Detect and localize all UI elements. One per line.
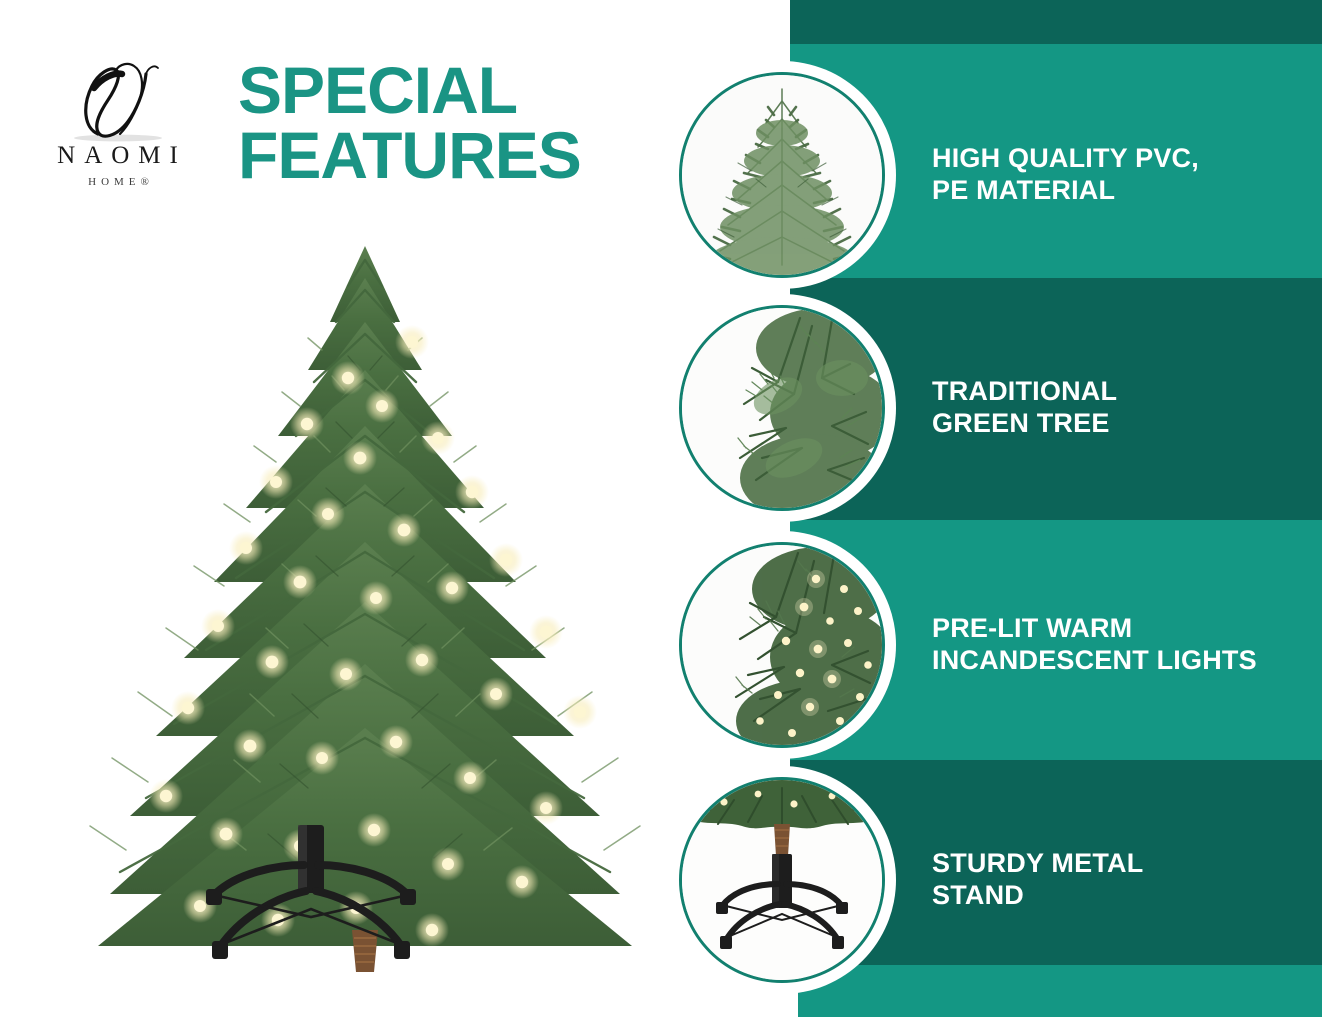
feature-thumbnail-wrap [668, 61, 896, 289]
naomi-script-n-monogram-icon [18, 58, 218, 138]
feature-label-line: TRADITIONAL [932, 376, 1312, 408]
feature-label-lights: PRE-LIT WARM INCANDESCENT LIGHTS [932, 613, 1312, 677]
feature-thumbnail-wrap [668, 531, 896, 759]
brand-logo: NAOMI HOME® [18, 58, 218, 188]
metal-stand-icon [180, 825, 440, 985]
page-title-line2: FEATURES [238, 123, 581, 188]
feature-label-line: STURDY METAL [932, 848, 1312, 880]
feature-label-material: HIGH QUALITY PVC, PE MATERIAL [932, 143, 1312, 207]
feature-label-line: PRE-LIT WARM [932, 613, 1312, 645]
feature-thumbnail-wrap [668, 294, 896, 522]
feature-label-green-tree: TRADITIONAL GREEN TREE [932, 376, 1312, 440]
tree-branches-closeup-image [679, 305, 885, 511]
feature-label-line: PE MATERIAL [932, 175, 1312, 207]
tree-top-closeup-image [679, 72, 885, 278]
band-top-dark [790, 0, 1322, 44]
tree-metal-stand-closeup-image [679, 777, 885, 983]
brand-sub: HOME® [18, 176, 218, 188]
page-title-line1: SPECIAL [238, 58, 581, 123]
page-title: SPECIAL FEATURES [238, 58, 581, 187]
feature-thumbnail-wrap [668, 766, 896, 994]
feature-label-line: HIGH QUALITY PVC, [932, 143, 1312, 175]
feature-label-line: STAND [932, 880, 1312, 912]
tree-lights-closeup-image [679, 542, 885, 748]
infographic-page: HIGH QUALITY PVC, PE MATERIAL [0, 0, 1322, 1017]
brand-name: NAOMI [18, 142, 218, 170]
feature-label-stand: STURDY METAL STAND [932, 848, 1312, 912]
feature-label-line: GREEN TREE [932, 408, 1312, 440]
feature-label-line: INCANDESCENT LIGHTS [932, 645, 1312, 677]
